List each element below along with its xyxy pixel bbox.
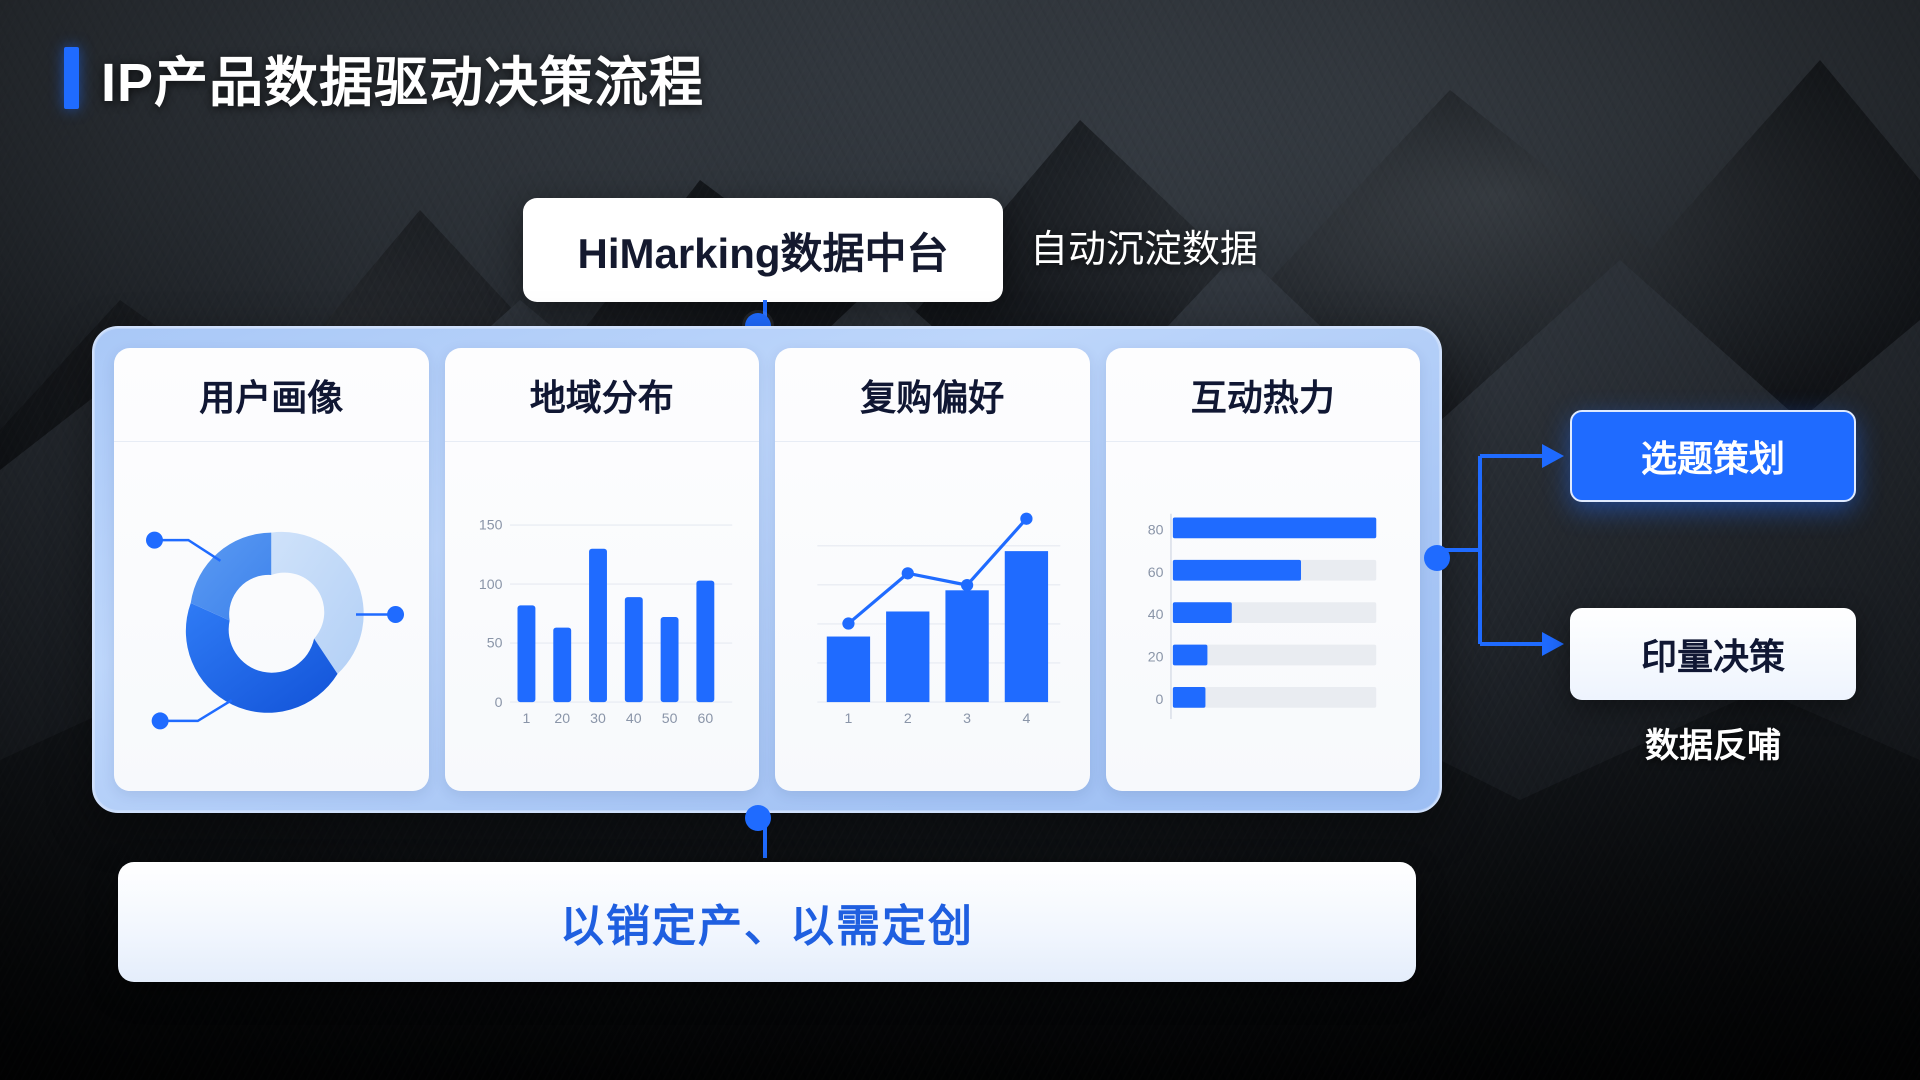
title-accent-bar (64, 47, 79, 109)
svg-text:50: 50 (661, 710, 677, 726)
bottom-connector-dot (745, 805, 771, 831)
y-axis-ticks: 80 60 40 20 0 (1147, 521, 1163, 707)
branch-connector-dot (1424, 545, 1450, 571)
card-repurchase-preference[interactable]: 复购偏好 (775, 348, 1090, 791)
svg-text:80: 80 (1147, 521, 1163, 537)
bottom-banner[interactable]: 以销定产、以需定创 (118, 862, 1416, 982)
metrics-container: 用户画像 (92, 326, 1442, 813)
card-title: 用户画像 (114, 348, 429, 442)
decision-topic-label: 选题策划 (1641, 430, 1785, 482)
card-region-distribution[interactable]: 地域分布 150 100 50 0 (445, 348, 760, 791)
card-interaction-heat[interactable]: 互动热力 80 (1106, 348, 1421, 791)
svg-text:40: 40 (1147, 606, 1163, 622)
data-hub-card[interactable]: HiMarking数据中台 (523, 198, 1003, 302)
card-chart-area: 1 2 3 4 (775, 442, 1090, 791)
bar-chart-region: 150 100 50 0 1 20 30 40 (461, 456, 744, 773)
donut-leader-dot-right (387, 606, 404, 623)
card-chart-area: 150 100 50 0 1 20 30 40 (445, 442, 760, 791)
title-label: IP产品数据驱动决策流程 (101, 38, 704, 117)
card-chart-area: 80 60 40 20 0 (1106, 442, 1421, 791)
svg-text:3: 3 (963, 710, 971, 726)
donut-leader-dot-left (146, 532, 163, 549)
card-title: 地域分布 (445, 348, 760, 442)
svg-text:150: 150 (478, 517, 502, 533)
card-title: 复购偏好 (775, 348, 1090, 442)
decision-box-topic-planning[interactable]: 选题策划 (1570, 410, 1856, 502)
y-axis-ticks: 150 100 50 0 (478, 517, 502, 710)
svg-text:20: 20 (1147, 649, 1163, 665)
donut-chart (130, 456, 413, 773)
data-hub-label: HiMarking数据中台 (577, 220, 948, 281)
data-feedback-label: 数据反哺 (1570, 718, 1856, 767)
card-user-profile[interactable]: 用户画像 (114, 348, 429, 791)
decision-print-label: 印量决策 (1641, 628, 1785, 680)
trend-points (842, 513, 1032, 630)
page-title: IP产品数据驱动决策流程 (64, 38, 704, 117)
x-axis-ticks: 1 20 30 40 50 60 (522, 710, 713, 726)
x-axis-ticks: 1 2 3 4 (845, 710, 1031, 726)
svg-text:60: 60 (697, 710, 713, 726)
svg-text:100: 100 (478, 576, 502, 592)
bars (827, 551, 1048, 702)
decision-box-print-volume[interactable]: 印量决策 (1570, 608, 1856, 700)
svg-text:0: 0 (1155, 691, 1163, 707)
bars (517, 549, 714, 702)
hbar-chart-heat: 80 60 40 20 0 (1122, 456, 1405, 773)
svg-text:4: 4 (1022, 710, 1030, 726)
card-chart-area (114, 442, 429, 791)
svg-text:50: 50 (486, 635, 502, 651)
svg-text:30: 30 (590, 710, 606, 726)
svg-text:60: 60 (1147, 564, 1163, 580)
donut-leader-dot-bottom (152, 712, 169, 729)
svg-text:40: 40 (625, 710, 641, 726)
svg-text:1: 1 (522, 710, 530, 726)
auto-deposit-label: 自动沉淀数据 (1030, 218, 1258, 273)
combo-chart-repurchase: 1 2 3 4 (791, 456, 1074, 773)
svg-text:20: 20 (554, 710, 570, 726)
svg-text:1: 1 (845, 710, 853, 726)
trend-line (848, 519, 1026, 624)
card-title: 互动热力 (1106, 348, 1421, 442)
svg-text:0: 0 (494, 694, 502, 710)
bottom-banner-label: 以销定产、以需定创 (560, 890, 974, 954)
svg-text:2: 2 (904, 710, 912, 726)
